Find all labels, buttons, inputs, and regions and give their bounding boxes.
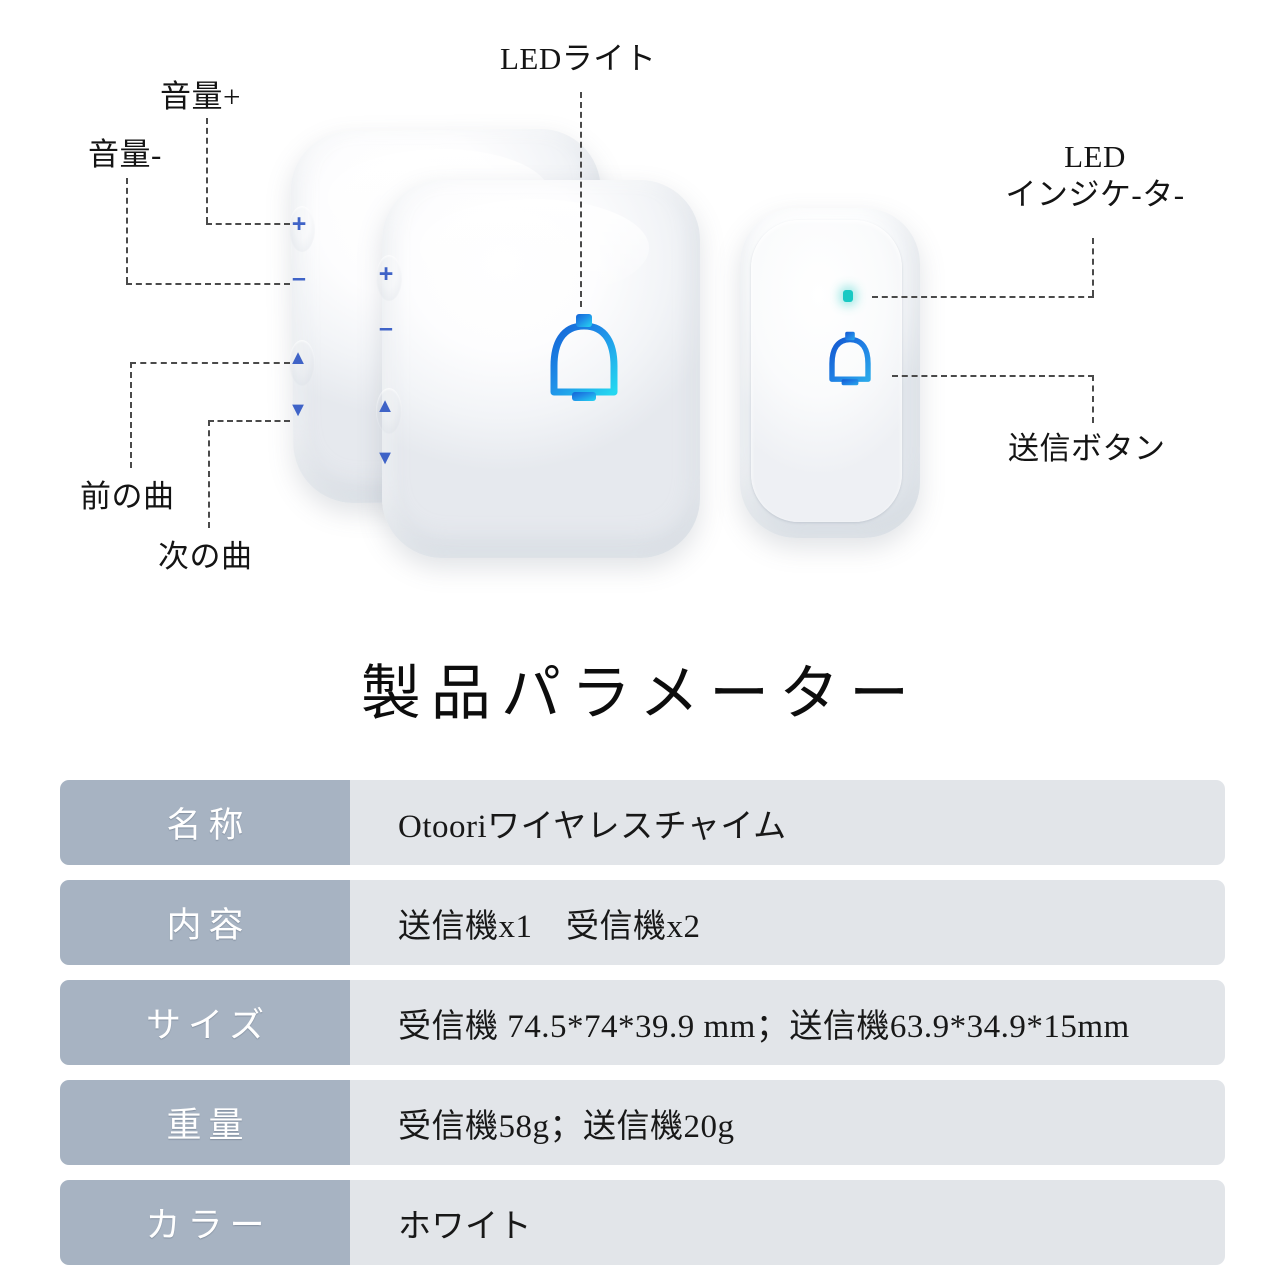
leader-line-volume-down-vertical bbox=[126, 178, 128, 283]
transmitter-led-indicator bbox=[843, 290, 853, 302]
transmitter-send-bell-icon[interactable] bbox=[820, 328, 880, 398]
receiver-front-previous-track-button[interactable]: ▲ bbox=[373, 396, 397, 416]
callout-led-indicator-line2: インジケ-タ- bbox=[1005, 177, 1184, 212]
leader-line-next-track-horizontal bbox=[208, 420, 290, 422]
spec-label-contents: 内容 bbox=[60, 880, 350, 965]
leader-line-volume-up-vertical bbox=[206, 118, 208, 223]
leader-line-volume-up-horizontal bbox=[206, 223, 290, 225]
leader-line-next-track-vertical bbox=[208, 420, 210, 528]
table-row: サイズ 受信機 74.5*74*39.9 mm；送信機63.9*34.9*15m… bbox=[60, 980, 1225, 1065]
table-row: カラー ホワイト bbox=[60, 1180, 1225, 1265]
spec-label-color: カラー bbox=[60, 1180, 350, 1265]
leader-line-led-indicator-vertical bbox=[1092, 238, 1094, 296]
callout-led-indicator-line1: LED bbox=[1064, 139, 1126, 174]
leader-line-transmit-button-horizontal bbox=[892, 375, 1094, 377]
spec-value-color: ホワイト bbox=[350, 1180, 1225, 1265]
receiver-back-volume-up-button[interactable]: + bbox=[287, 212, 311, 237]
leader-line-previous-track-vertical bbox=[130, 362, 132, 468]
leader-line-transmit-button-vertical bbox=[1092, 375, 1094, 423]
product-diagram: + – ▲ ▼ + – ▲ ▼ bbox=[0, 0, 1280, 620]
spec-value-name: Otooriワイヤレスチャイム bbox=[350, 780, 1225, 865]
callout-volume-up: 音量+ bbox=[160, 78, 241, 116]
leader-line-previous-track-horizontal bbox=[130, 362, 290, 364]
spec-value-size: 受信機 74.5*74*39.9 mm；送信機63.9*34.9*15mm bbox=[350, 980, 1225, 1065]
receiver-back-next-track-button[interactable]: ▼ bbox=[286, 400, 310, 420]
receiver-front-volume-up-button[interactable]: + bbox=[374, 262, 398, 287]
receiver-back-previous-track-button[interactable]: ▲ bbox=[286, 348, 310, 368]
callout-next-track: 次の曲 bbox=[158, 538, 253, 576]
spec-label-weight: 重量 bbox=[60, 1080, 350, 1165]
spec-label-size: サイズ bbox=[60, 980, 350, 1065]
leader-line-volume-down-horizontal bbox=[126, 283, 290, 285]
callout-transmit-button: 送信ボタン bbox=[1008, 430, 1166, 468]
leader-line-led-indicator-horizontal bbox=[872, 296, 1094, 298]
callout-led-indicator: LED インジケ-タ- bbox=[970, 138, 1220, 214]
spec-value-contents: 送信機x1 受信機x2 bbox=[350, 880, 1225, 965]
callout-led-light: LEDライト bbox=[500, 40, 656, 78]
page-title: 製品パラメーター bbox=[0, 645, 1280, 732]
receiver-front-next-track-button[interactable]: ▼ bbox=[373, 448, 397, 468]
spec-label-name: 名称 bbox=[60, 780, 350, 865]
table-row: 名称 Otooriワイヤレスチャイム bbox=[60, 780, 1225, 865]
callout-volume-down: 音量- bbox=[88, 136, 162, 174]
callout-previous-track: 前の曲 bbox=[80, 478, 175, 516]
receiver-front-volume-down-button[interactable]: – bbox=[374, 316, 398, 341]
spec-table: 名称 Otooriワイヤレスチャイム 内容 送信機x1 受信機x2 サイズ 受信… bbox=[60, 780, 1225, 1280]
leader-line-led-light bbox=[580, 92, 582, 307]
table-row: 内容 送信機x1 受信機x2 bbox=[60, 880, 1225, 965]
receiver-bell-icon bbox=[534, 310, 634, 420]
receiver-back-volume-down-button[interactable]: – bbox=[287, 266, 311, 291]
spec-value-weight: 受信機58g；送信機20g bbox=[350, 1080, 1225, 1165]
table-row: 重量 受信機58g；送信機20g bbox=[60, 1080, 1225, 1165]
